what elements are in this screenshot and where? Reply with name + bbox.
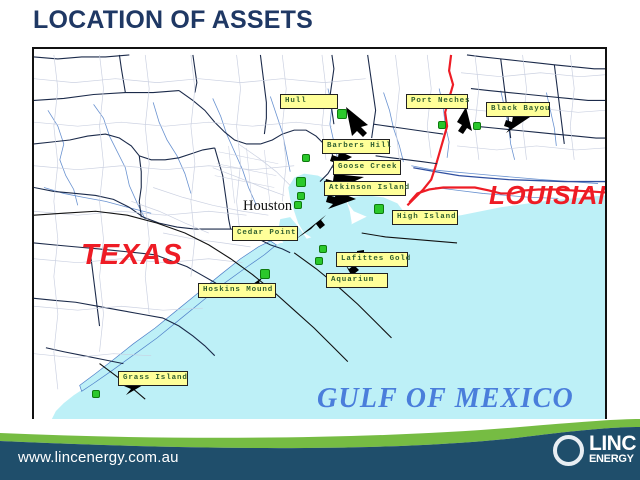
site-label-black-bayou[interactable]: Black Bayou: [486, 102, 550, 117]
site-marker-atkinson-island[interactable]: [297, 192, 305, 200]
site-marker-hull[interactable]: [337, 109, 347, 119]
slide-root: LOCATION OF ASSETS: [0, 0, 640, 480]
site-marker-goose-creek[interactable]: [296, 177, 306, 187]
site-label-atkinson-island[interactable]: Atkinson Island: [324, 181, 406, 196]
map-container[interactable]: TEXAS LOUISIANA GULF OF MEXICO Houston: [32, 47, 607, 421]
city-label-houston: Houston: [243, 198, 292, 215]
logo-wordmark: LINC ENERGY: [589, 434, 640, 465]
site-label-aquarium[interactable]: Aquarium: [326, 273, 388, 288]
site-label-port-neches[interactable]: Port Neches: [406, 94, 468, 109]
logo-line-2: ENERGY: [589, 454, 640, 465]
site-marker-lafittes-gold[interactable]: [319, 245, 327, 253]
site-marker-port-neches[interactable]: [438, 121, 446, 129]
site-marker-high-island[interactable]: [374, 204, 384, 214]
site-label-hoskins-mound[interactable]: Hoskins Mound: [198, 283, 276, 298]
site-label-hull[interactable]: Hull: [280, 94, 338, 109]
page-title: LOCATION OF ASSETS: [33, 6, 313, 35]
site-label-lafittes-gold[interactable]: Lafittes Gold: [336, 252, 408, 267]
site-marker-hoskins-mound[interactable]: [260, 269, 270, 279]
logo-line-1: LINC: [589, 434, 640, 454]
site-marker-black-bayou[interactable]: [473, 122, 481, 130]
site-label-barbers-hill[interactable]: Barbers Hill: [322, 139, 390, 154]
site-marker-grass-island[interactable]: [92, 390, 100, 398]
site-label-cedar-point[interactable]: Cedar Point: [232, 226, 298, 241]
linc-energy-logo[interactable]: LINC ENERGY: [553, 430, 640, 474]
ring-icon: [553, 435, 584, 466]
site-marker-barbers-hill[interactable]: [302, 154, 310, 162]
site-marker-cedar-point[interactable]: [294, 201, 302, 209]
site-label-goose-creek[interactable]: Goose Creek: [333, 160, 401, 175]
site-marker-aquarium[interactable]: [315, 257, 323, 265]
site-label-high-island[interactable]: High Island: [392, 210, 458, 225]
site-label-grass-island[interactable]: Grass Island: [118, 371, 188, 386]
footer-url-text[interactable]: www.lincenergy.com.au: [18, 449, 179, 466]
